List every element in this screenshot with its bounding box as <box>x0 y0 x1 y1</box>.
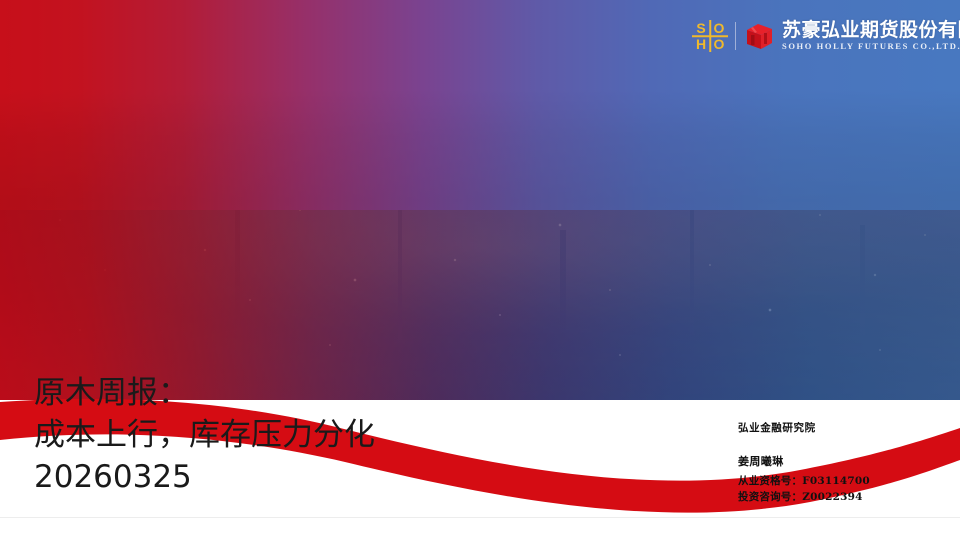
footer-divider <box>0 517 960 518</box>
analyst-name: 姜周曦琳 <box>738 453 870 469</box>
author-credentials-block: 弘业金融研究院 姜周曦琳 从业资格号：F03114700 投资咨询号：Z0022… <box>738 420 870 505</box>
report-title-line-2: 成本上行，库存压力分化 <box>34 414 594 456</box>
soho-letter-h: H <box>692 36 710 52</box>
report-title-line-1: 原木周报： <box>34 372 594 414</box>
company-logo: S O H O 苏豪弘业期货股份有限公司 SOHO HOLLY FUTURES … <box>692 14 960 58</box>
red-cube-icon <box>743 21 775 51</box>
consulting-license-number: 投资咨询号：Z0022394 <box>738 489 870 505</box>
logo-company-names: 苏豪弘业期货股份有限公司 SOHO HOLLY FUTURES CO.,LTD. <box>782 21 960 51</box>
soho-letter-o1: O <box>710 20 728 36</box>
company-name-en: SOHO HOLLY FUTURES CO.,LTD. <box>782 42 960 51</box>
research-institute-name: 弘业金融研究院 <box>738 420 870 435</box>
report-cover-slide: S O H O 苏豪弘业期货股份有限公司 SOHO HOLLY FUTURES … <box>0 0 960 540</box>
soho-letter-o2: O <box>710 36 728 52</box>
company-name-cn: 苏豪弘业期货股份有限公司 <box>782 21 960 40</box>
practice-license-number: 从业资格号：F03114700 <box>738 473 870 489</box>
logo-divider <box>735 22 736 50</box>
report-title-block: 原木周报： 成本上行，库存压力分化 20260325 <box>34 372 594 498</box>
soho-monogram-icon: S O H O <box>692 20 728 52</box>
report-date: 20260325 <box>34 456 594 498</box>
soho-letter-s: S <box>692 20 710 36</box>
